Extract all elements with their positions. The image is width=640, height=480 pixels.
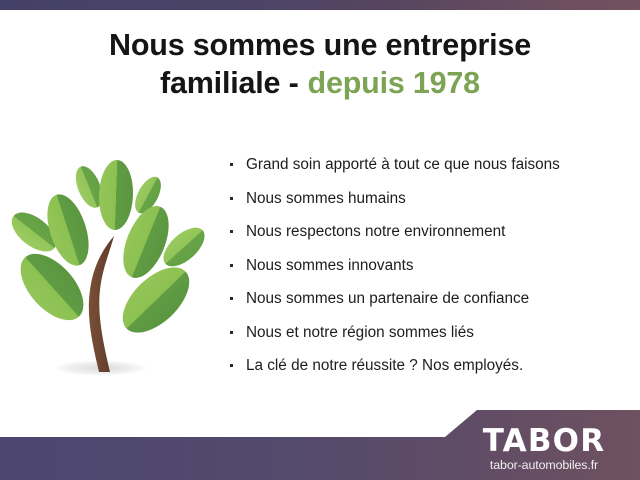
slide-canvas: Nous sommes une entreprise familiale -de…	[0, 0, 640, 480]
page-title: Nous sommes une entreprise familiale -de…	[0, 26, 640, 102]
list-item-label: Nous et notre région sommes liés	[246, 324, 474, 341]
bullet-dot-icon	[230, 163, 233, 166]
value-bullet-list: Grand soin apporté à tout ce que nous fa…	[228, 148, 628, 383]
list-item-label: La clé de notre réussite ? Nos employés.	[246, 357, 523, 374]
brand-website: tabor-automobiles.fr	[460, 458, 628, 472]
list-item: La clé de notre réussite ? Nos employés.	[228, 349, 628, 383]
brand-logo[interactable]: TABOR tabor-automobiles.fr	[460, 425, 628, 472]
list-item-label: Nous sommes humains	[246, 190, 406, 207]
headline-line-2: familiale -depuis 1978	[0, 64, 640, 102]
bullet-dot-icon	[230, 331, 233, 334]
list-item-label: Nous sommes innovants	[246, 257, 414, 274]
tree-trunk	[89, 236, 114, 372]
list-item: Nous respectons notre environnement	[228, 215, 628, 249]
top-accent-bar	[0, 0, 640, 10]
headline-line-2-main: familiale -	[160, 66, 299, 100]
leaf	[98, 159, 134, 230]
list-item: Nous sommes humains	[228, 182, 628, 216]
list-item: Nous et notre région sommes liés	[228, 316, 628, 350]
list-item: Nous sommes innovants	[228, 249, 628, 283]
bullet-dot-icon	[230, 264, 233, 267]
bullet-dot-icon	[230, 230, 233, 233]
bullet-dot-icon	[230, 364, 233, 367]
list-item-label: Grand soin apporté à tout ce que nous fa…	[246, 156, 560, 173]
footer-band: TABOR tabor-automobiles.fr	[0, 402, 640, 480]
headline-line-1: Nous sommes une entreprise	[0, 26, 640, 64]
leaf	[111, 256, 201, 345]
headline-accent-since: depuis 1978	[308, 66, 480, 100]
brand-wordmark: TABOR	[460, 425, 628, 457]
list-item-label: Nous sommes un partenaire de confiance	[246, 290, 529, 307]
list-item: Nous sommes un partenaire de confiance	[228, 282, 628, 316]
bullet-dot-icon	[230, 197, 233, 200]
bullet-dot-icon	[230, 297, 233, 300]
list-item: Grand soin apporté à tout ce que nous fa…	[228, 148, 628, 182]
list-item-label: Nous respectons notre environnement	[246, 223, 505, 240]
tree-illustration	[6, 150, 216, 390]
